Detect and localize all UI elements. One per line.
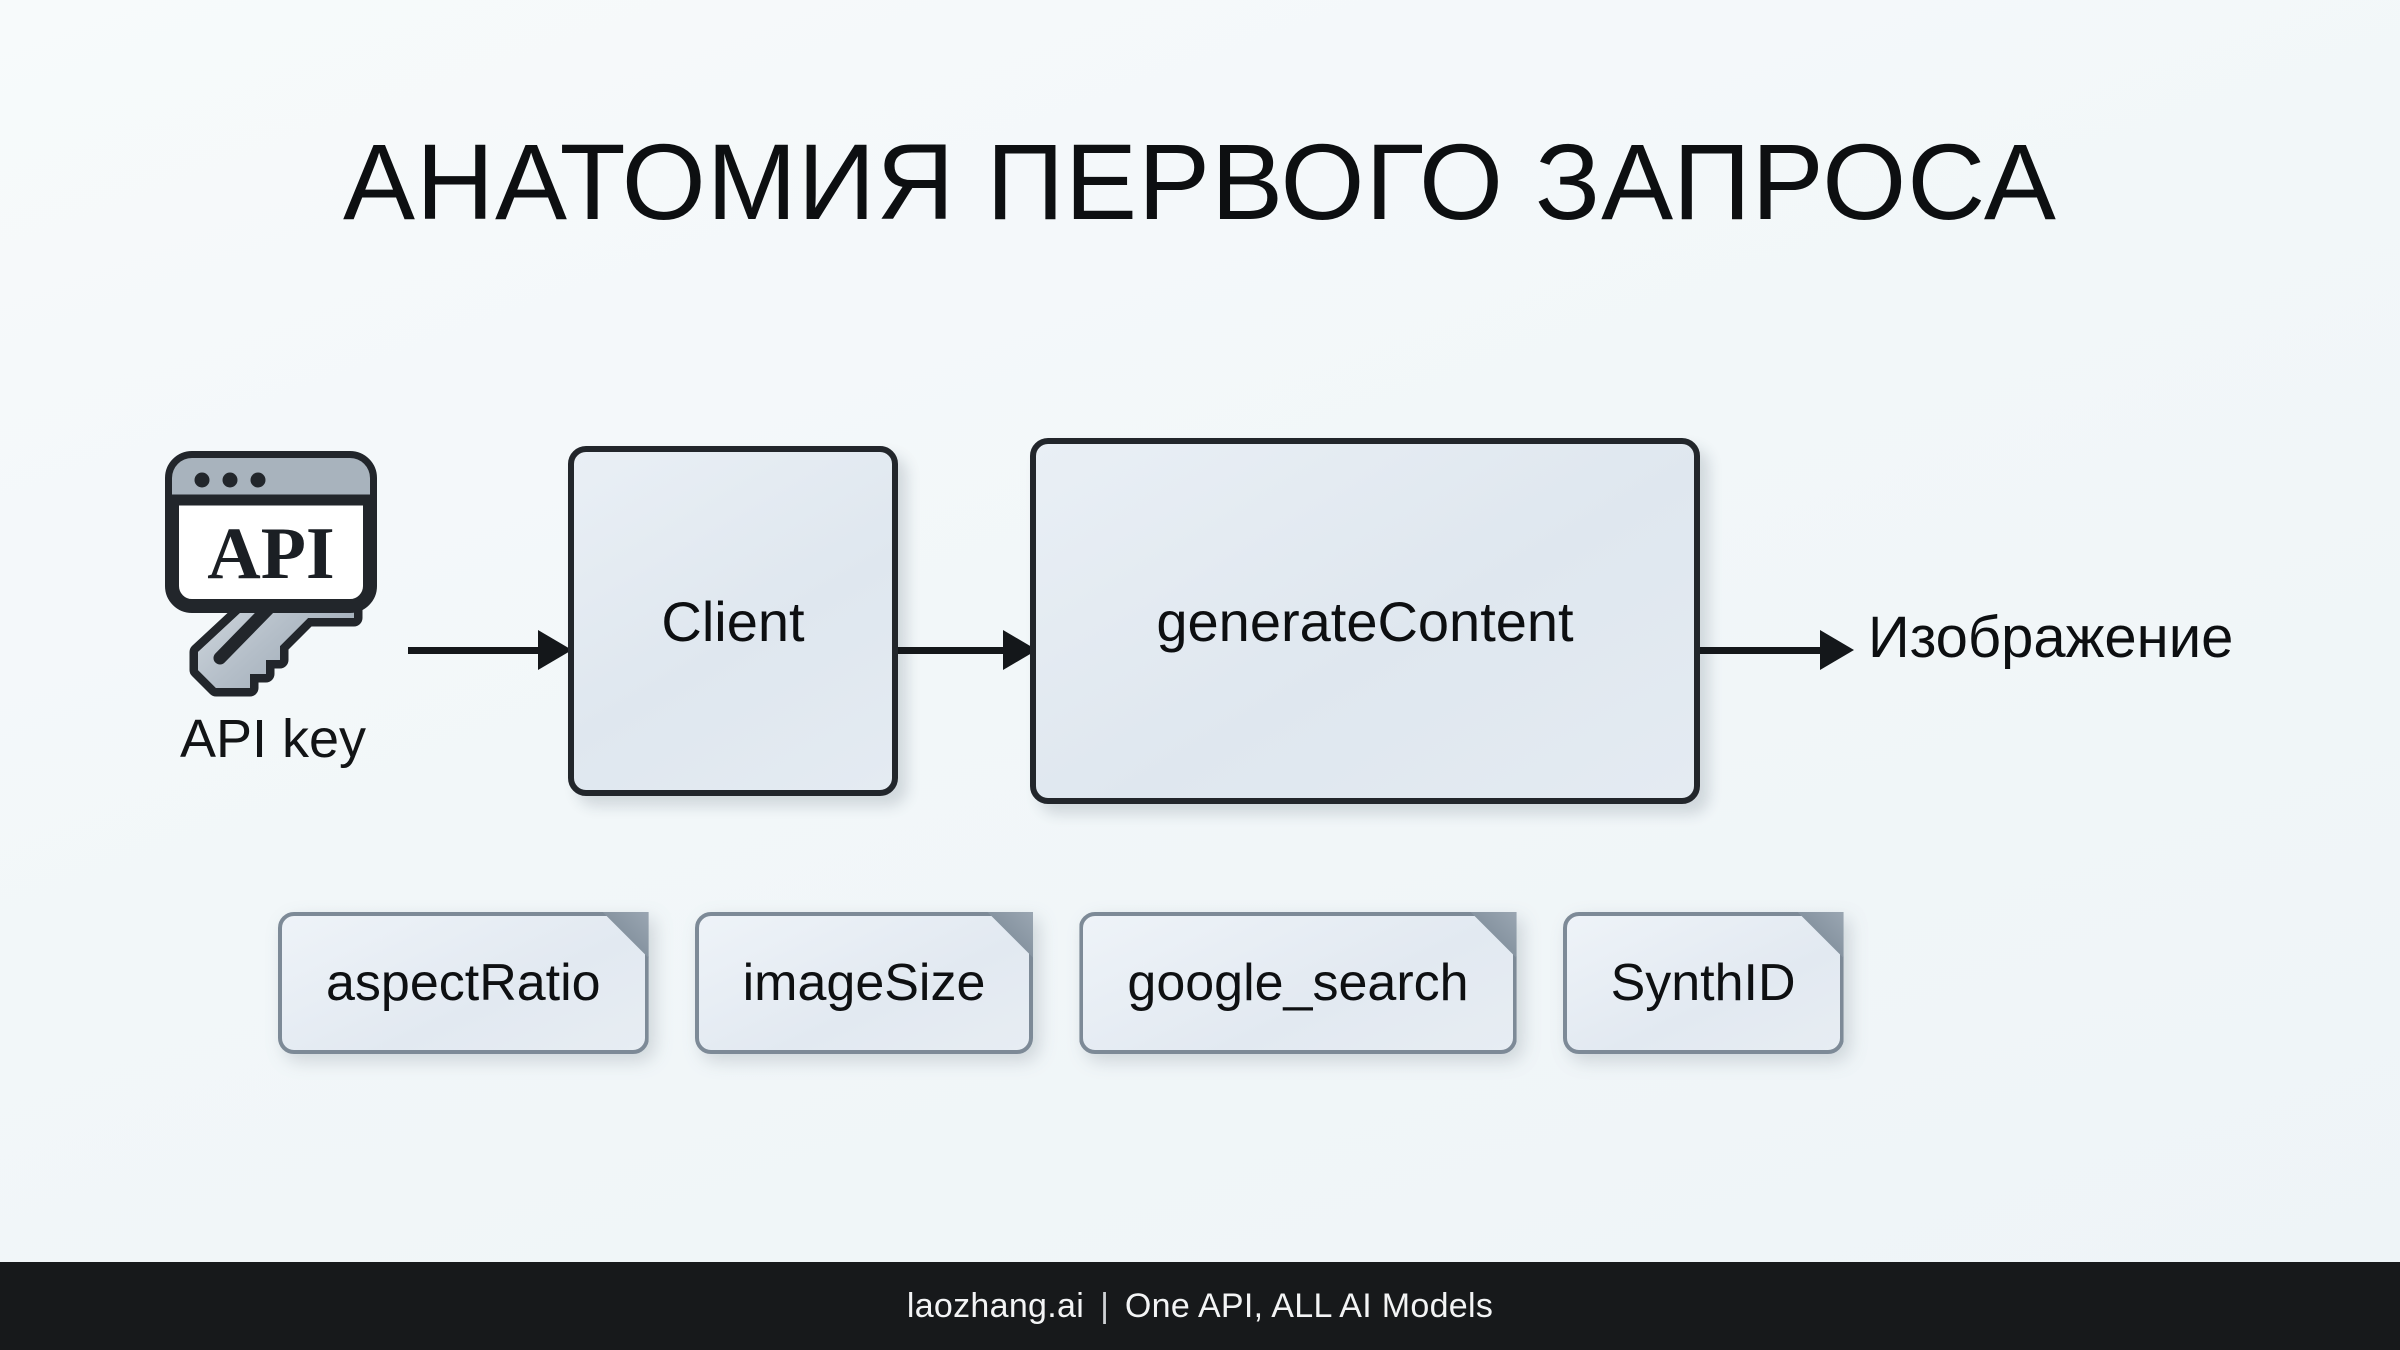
flow-node-generate-content[interactable]: generateContent — [1030, 438, 1700, 804]
footer-brand: laozhang.ai — [907, 1287, 1084, 1326]
arrow-right-icon — [1700, 630, 1855, 670]
arrow-head — [538, 630, 572, 670]
parameter-tag-label: aspectRatio — [278, 912, 649, 1054]
parameter-tag-label: SynthID — [1563, 912, 1844, 1054]
arrow-shaft — [408, 647, 540, 654]
flow-output-label: Изображение — [1868, 604, 2233, 671]
parameter-tag-row: aspectRatio imageSize google_search Synt… — [278, 912, 2178, 1072]
page-title: АНАТОМИЯ ПЕРВОГО ЗАПРОСА — [0, 128, 2400, 236]
arrow-shaft — [1700, 647, 1822, 654]
flow-node-client-label: Client — [661, 589, 804, 654]
api-key-icon: API — [158, 450, 388, 700]
parameter-tag[interactable]: aspectRatio — [278, 912, 649, 1054]
arrow-right-icon — [408, 630, 573, 670]
footer-bar: laozhang.ai | One API, ALL AI Models — [0, 1262, 2400, 1350]
footer-separator: | — [1084, 1287, 1125, 1326]
flow-node-generate-content-label: generateContent — [1156, 589, 1573, 654]
arrow-head — [1820, 630, 1854, 670]
slide-canvas: АНАТОМИЯ ПЕРВОГО ЗАПРОСА — [0, 0, 2400, 1350]
api-key-label: API key — [148, 708, 398, 770]
parameter-tag-label: google_search — [1079, 912, 1516, 1054]
parameter-tag[interactable]: imageSize — [695, 912, 1034, 1054]
parameter-tag[interactable]: google_search — [1079, 912, 1516, 1054]
arrow-shaft — [898, 647, 1005, 654]
api-key-node: API API key — [148, 450, 438, 810]
flow-node-client[interactable]: Client — [568, 446, 898, 796]
parameter-tag[interactable]: SynthID — [1563, 912, 1844, 1054]
arrow-right-icon — [898, 630, 1038, 670]
footer-tagline: One API, ALL AI Models — [1125, 1287, 1493, 1326]
parameter-tag-label: imageSize — [695, 912, 1034, 1054]
svg-text:API: API — [207, 513, 334, 595]
flow-diagram: API API key Client — [0, 430, 2400, 810]
